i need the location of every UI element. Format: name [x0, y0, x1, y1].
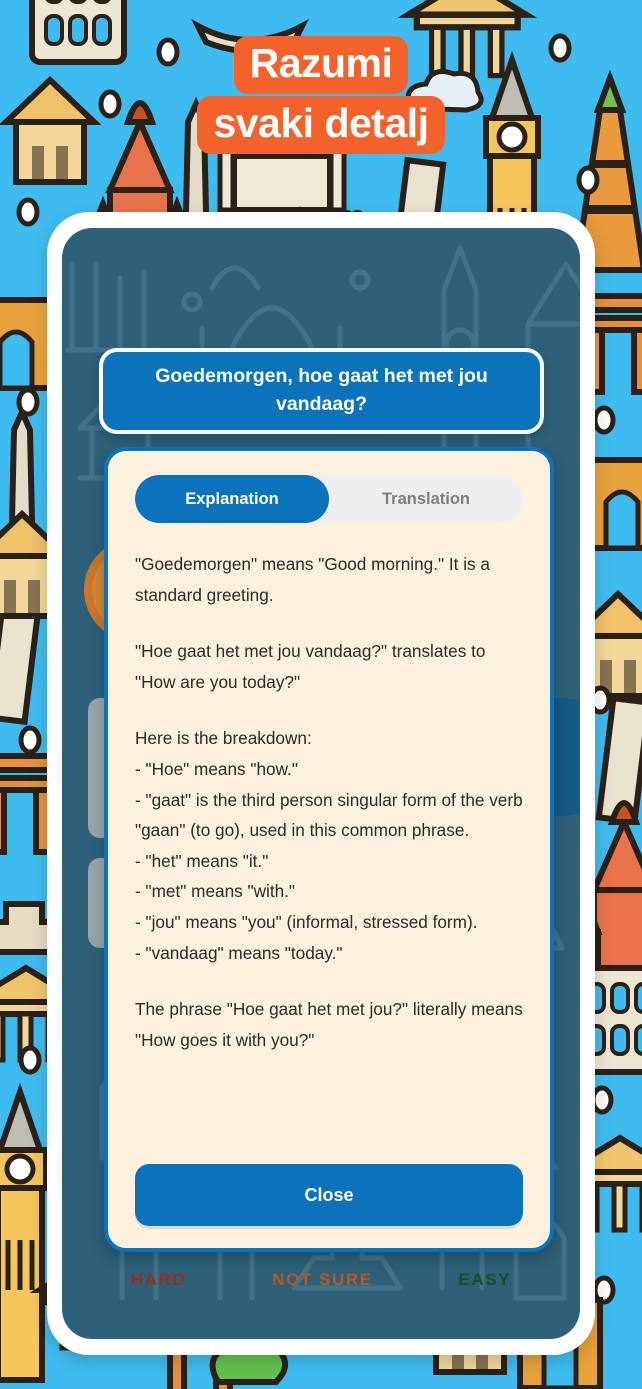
tab-explanation[interactable]: Explanation: [135, 475, 329, 523]
explanation-paragraph: "Goedemorgen" means "Good morning." It i…: [135, 549, 523, 610]
explanation-paragraph: "Hoe gaat het met jou vandaag?" translat…: [135, 636, 523, 697]
rating-easy-button[interactable]: EASY: [458, 1270, 511, 1290]
close-button[interactable]: Close: [135, 1164, 523, 1226]
rating-hard-button[interactable]: HARD: [131, 1270, 187, 1290]
explanation-paragraph: The phrase "Hoe gaat het met jou?" liter…: [135, 994, 523, 1055]
explanation-breakdown: Here is the breakdown: - "Hoe" means "ho…: [135, 723, 523, 968]
rating-not-sure-button[interactable]: NOT SURE: [272, 1270, 373, 1290]
explanation-modal: Explanation Translation "Goedemorgen" me…: [104, 447, 554, 1252]
tab-translation[interactable]: Translation: [329, 475, 523, 523]
tab-strip: Explanation Translation: [135, 475, 523, 523]
screenshot-root: Razumi svaki detalj: [0, 0, 642, 1389]
explanation-body: "Goedemorgen" means "Good morning." It i…: [135, 549, 523, 1150]
question-banner: Goedemorgen, hoe gaat het met jou vandaa…: [99, 348, 544, 434]
question-text: Goedemorgen, hoe gaat het met jou vandaa…: [129, 363, 514, 418]
rating-row: HARD NOT SURE EASY: [62, 1270, 580, 1290]
